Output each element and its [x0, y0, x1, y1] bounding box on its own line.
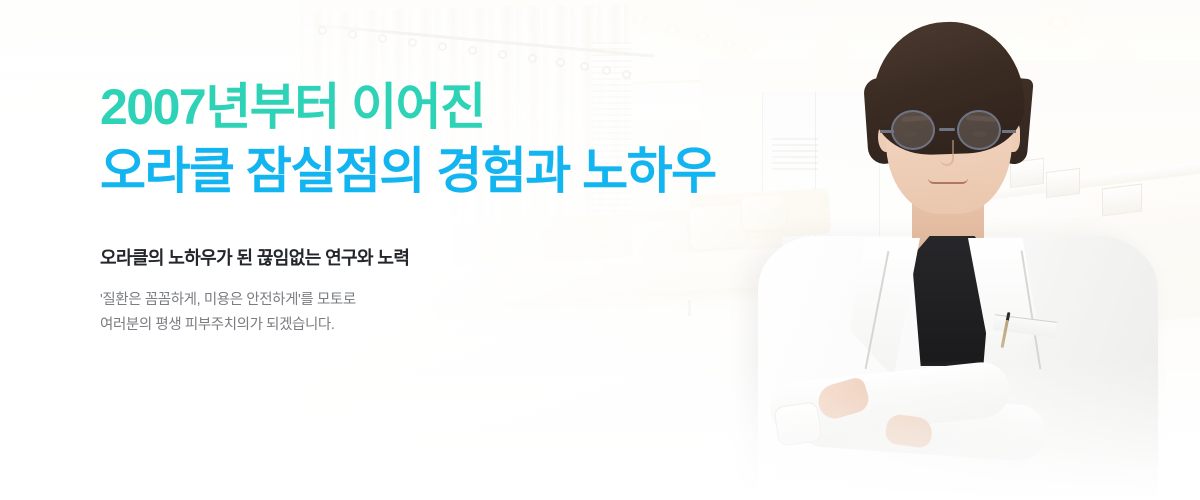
- body-copy: '질환은 꼼꼼하게, 미용은 안전하게'를 모토로 여러분의 평생 피부주치의가…: [100, 288, 800, 338]
- headline-line-1: 2007년부터 이어진: [100, 76, 800, 138]
- body-copy-line-1: '질환은 꼼꼼하게, 미용은 안전하게'를 모토로: [100, 288, 800, 313]
- subheadline: 오라클의 노하우가 된 끊임없는 연구와 노력: [100, 244, 800, 270]
- headline-line-2: 오라클 잠실점의 경험과 노하우: [100, 140, 800, 202]
- hero-banner: 2007년부터 이어진 오라클 잠실점의 경험과 노하우 오라클의 노하우가 된…: [0, 0, 1200, 500]
- banner-copy: 2007년부터 이어진 오라클 잠실점의 경험과 노하우 오라클의 노하우가 된…: [100, 76, 800, 338]
- body-copy-line-2: 여러분의 평생 피부주치의가 되겠습니다.: [100, 313, 800, 338]
